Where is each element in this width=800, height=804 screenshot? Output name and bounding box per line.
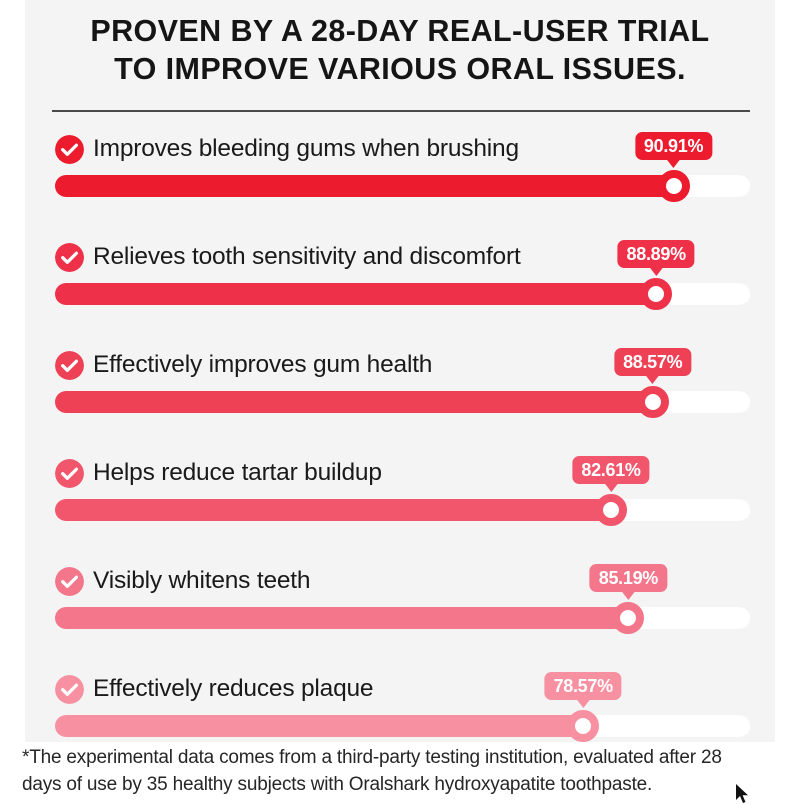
benefit-row-head: Improves bleeding gums when brushing [55,132,519,166]
progress-fill [55,499,611,521]
progress-knob[interactable] [640,278,672,310]
progress-track[interactable] [55,499,750,521]
benefit-row: Helps reduce tartar buildup82.61% [0,450,800,558]
title-divider [52,110,750,112]
benefit-row: Effectively improves gum health88.57% [0,342,800,450]
benefit-label: Visibly whitens teeth [93,567,310,595]
progress-knob[interactable] [658,170,690,202]
benefit-row-head: Relieves tooth sensitivity and discomfor… [55,240,521,274]
progress-fill [55,283,656,305]
title-line-2: TO IMPROVE VARIOUS ORAL ISSUES. [25,50,775,88]
progress-fill [55,391,653,413]
percent-badge: 88.89% [618,240,695,268]
percent-badge-value: 88.89% [627,244,686,265]
percent-badge: 82.61% [572,456,649,484]
progress-track[interactable] [55,175,750,197]
percent-badge-pointer [649,267,663,276]
percent-badge-value: 88.57% [623,352,682,373]
percent-badge-value: 82.61% [581,460,640,481]
percent-badge: 90.91% [635,132,712,160]
percent-badge-value: 78.57% [554,676,613,697]
benefit-label: Effectively reduces plaque [93,675,373,703]
progress-fill [55,715,583,737]
progress-fill [55,175,674,197]
check-circle-icon [55,351,84,380]
benefit-label: Improves bleeding gums when brushing [93,135,519,163]
page-title: PROVEN BY A 28-DAY REAL-USER TRIAL TO IM… [25,12,775,88]
progress-knob[interactable] [595,494,627,526]
percent-badge: 85.19% [590,564,667,592]
progress-track[interactable] [55,607,750,629]
benefit-label: Relieves tooth sensitivity and discomfor… [93,243,521,271]
percent-badge-value: 85.19% [599,568,658,589]
progress-knob[interactable] [567,710,599,742]
check-circle-icon [55,567,84,596]
footnote-line-1: *The experimental data comes from a thir… [22,744,784,771]
progress-knob[interactable] [612,602,644,634]
benefit-list: Improves bleeding gums when brushing90.9… [0,126,800,774]
benefit-row-head: Effectively improves gum health [55,348,432,382]
benefit-row: Improves bleeding gums when brushing90.9… [0,126,800,234]
check-circle-icon [55,135,84,164]
percent-badge: 88.57% [614,348,691,376]
progress-knob[interactable] [637,386,669,418]
title-line-1: PROVEN BY A 28-DAY REAL-USER TRIAL [25,12,775,50]
benefit-row-head: Helps reduce tartar buildup [55,456,382,490]
benefit-row: Visibly whitens teeth85.19% [0,558,800,666]
check-circle-icon [55,675,84,704]
percent-badge-pointer [667,159,681,168]
percent-badge: 78.57% [545,672,622,700]
progress-track[interactable] [55,715,750,737]
percent-badge-pointer [604,483,618,492]
benefit-row-head: Visibly whitens teeth [55,564,310,598]
percent-badge-pointer [646,375,660,384]
percent-badge-pointer [576,699,590,708]
check-circle-icon [55,459,84,488]
benefit-label: Helps reduce tartar buildup [93,459,382,487]
check-circle-icon [55,243,84,272]
benefit-row-head: Effectively reduces plaque [55,672,373,706]
percent-badge-pointer [621,591,635,600]
footnote-line-2: days of use by 35 healthy subjects with … [22,771,784,798]
infographic-root: PROVEN BY A 28-DAY REAL-USER TRIAL TO IM… [0,0,800,800]
benefit-label: Effectively improves gum health [93,351,432,379]
progress-fill [55,607,628,629]
mouse-cursor-icon [736,784,750,804]
benefit-row: Relieves tooth sensitivity and discomfor… [0,234,800,342]
footnote: *The experimental data comes from a thir… [22,744,784,798]
percent-badge-value: 90.91% [644,136,703,157]
